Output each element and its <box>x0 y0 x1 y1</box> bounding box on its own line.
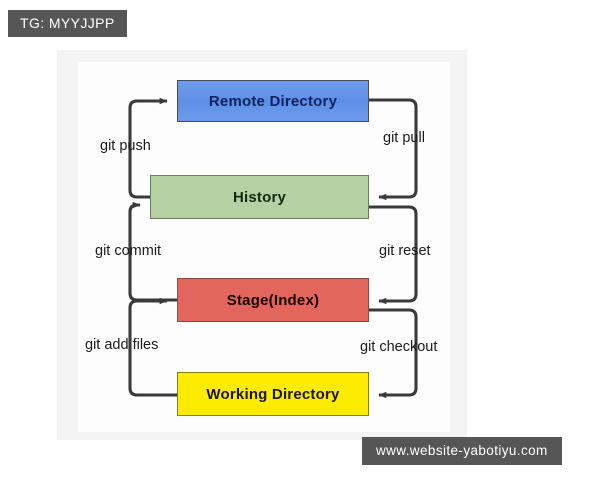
node-stage-index[interactable]: Stage(Index) <box>177 278 369 322</box>
edge-label-git-commit: git commit <box>95 243 161 259</box>
edge-label-git-pull: git pull <box>383 130 425 146</box>
watermark-badge-bottom: www.website-yabotiyu.com <box>362 437 562 465</box>
edge-label-git-push: git push <box>100 138 151 154</box>
node-remote-directory[interactable]: Remote Directory <box>177 80 369 122</box>
edge-label-git-checkout: git checkout <box>360 339 437 355</box>
node-working-directory[interactable]: Working Directory <box>177 372 369 416</box>
node-history[interactable]: History <box>150 175 369 219</box>
edge-label-git-reset: git reset <box>379 243 431 259</box>
watermark-badge-top: TG: MYYJJPP <box>8 10 127 37</box>
edge-label-git-add-files: git add files <box>85 337 158 353</box>
